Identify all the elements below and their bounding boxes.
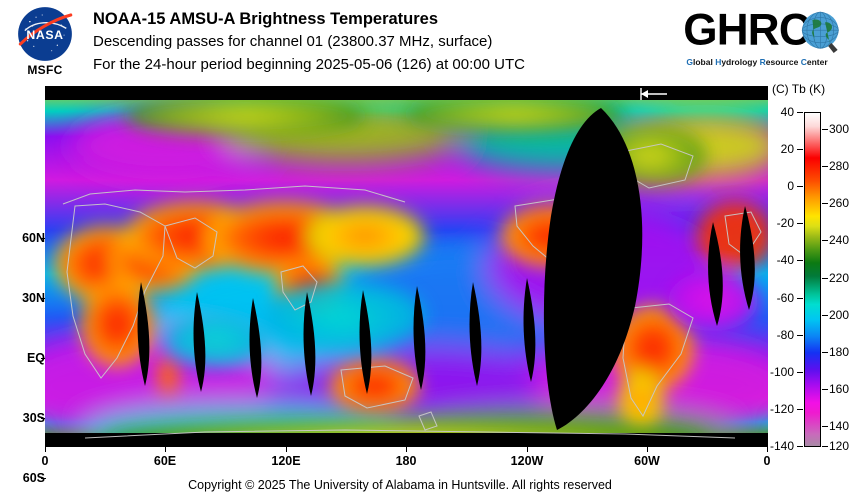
cb-tick-c-m20 bbox=[797, 223, 803, 224]
page-title: NOAA-15 AMSU-A Brightness Temperatures bbox=[93, 8, 693, 30]
lat-label-30n: 30N bbox=[5, 292, 45, 304]
cb-label-k-180: 180 bbox=[829, 347, 854, 358]
cb-label-k-200: 200 bbox=[829, 310, 854, 321]
cb-tick-c-40 bbox=[797, 112, 803, 113]
ghrc-tagline: Global Hydrology Resource Center bbox=[682, 57, 832, 67]
lon-tick-60w bbox=[647, 447, 648, 452]
cb-label-k-260: 260 bbox=[829, 198, 854, 209]
lon-label-60e: 60E bbox=[154, 454, 176, 468]
cb-label-c-m80: -80 bbox=[764, 330, 794, 341]
cb-tick-c-m120 bbox=[797, 409, 803, 410]
lon-label-120w: 120W bbox=[511, 454, 544, 468]
cb-tick-k-140 bbox=[822, 426, 828, 427]
cb-label-c-m140: -140 bbox=[764, 441, 794, 452]
lon-label-360: 0 bbox=[764, 454, 771, 468]
lon-label-60w: 60W bbox=[634, 454, 660, 468]
ghrc-logo: GHRC Global Hydrology Resource Center bbox=[682, 5, 842, 77]
cb-label-c-m20: -20 bbox=[764, 218, 794, 229]
lat-label-60n: 60N bbox=[5, 232, 45, 244]
longitude-axis: 0 60E 120E 180 120W 60W 0 bbox=[45, 447, 768, 473]
cb-label-c-m120: -120 bbox=[764, 404, 794, 415]
cb-tick-c-m140 bbox=[797, 446, 803, 447]
cb-label-k-120: 120 bbox=[829, 441, 854, 452]
colorbar: (C) Tb (K) 40 20 0 -20 -40 -60 -80 -100 … bbox=[772, 82, 854, 454]
cb-tick-k-280 bbox=[822, 166, 828, 167]
cb-label-c-0: 0 bbox=[764, 181, 794, 192]
header-block: NOAA-15 AMSU-A Brightness Temperatures D… bbox=[93, 8, 693, 76]
cb-label-c-40: 40 bbox=[764, 107, 794, 118]
latitude-axis: 60N 30N EQ 30S 60S bbox=[0, 86, 45, 447]
cb-tick-k-220 bbox=[822, 278, 828, 279]
lon-tick-120w bbox=[527, 447, 528, 452]
header-subtitle-period: For the 24-hour period beginning 2025-05… bbox=[93, 53, 693, 76]
lon-tick-60e bbox=[165, 447, 166, 452]
header-subtitle-channel: Descending passes for channel 01 (23800.… bbox=[93, 30, 693, 53]
brightness-temperature-map[interactable] bbox=[45, 86, 768, 447]
map-raster bbox=[45, 86, 768, 447]
nasa-meatball-icon: NASA bbox=[17, 6, 73, 62]
cb-tick-k-180 bbox=[822, 352, 828, 353]
svg-text:GHRC: GHRC bbox=[683, 5, 810, 54]
lon-tick-0 bbox=[45, 447, 46, 452]
cb-label-c-m60: -60 bbox=[764, 293, 794, 304]
cb-label-c-m40: -40 bbox=[764, 255, 794, 266]
nasa-center-label: MSFC bbox=[8, 63, 82, 77]
lat-label-eq: EQ bbox=[5, 352, 45, 364]
cb-label-k-300: 300 bbox=[829, 124, 854, 135]
cb-tick-c-m40 bbox=[797, 260, 803, 261]
cb-tick-k-260 bbox=[822, 203, 828, 204]
cb-tick-c-m80 bbox=[797, 335, 803, 336]
lat-label-30s: 30S bbox=[5, 412, 45, 424]
colorbar-gradient bbox=[804, 112, 821, 447]
cb-label-k-140: 140 bbox=[829, 421, 854, 432]
cb-tick-k-240 bbox=[822, 240, 828, 241]
cb-label-k-240: 240 bbox=[829, 235, 854, 246]
lon-label-0: 0 bbox=[42, 454, 49, 468]
colorbar-heading: (C) Tb (K) bbox=[772, 82, 854, 96]
ghrc-wordmark-icon: GHRC bbox=[682, 5, 842, 57]
cb-tick-k-160 bbox=[822, 389, 828, 390]
cb-tick-c-0 bbox=[797, 186, 803, 187]
lon-tick-180 bbox=[406, 447, 407, 452]
copyright-notice: Copyright © 2025 The University of Alaba… bbox=[0, 478, 800, 492]
cb-label-c-20: 20 bbox=[764, 144, 794, 155]
cb-tick-c-20 bbox=[797, 149, 803, 150]
cb-tick-k-300 bbox=[822, 129, 828, 130]
swath-start-arrow-icon bbox=[635, 87, 669, 101]
cb-tick-c-m100 bbox=[797, 372, 803, 373]
lon-label-120e: 120E bbox=[271, 454, 300, 468]
lon-tick-120e bbox=[286, 447, 287, 452]
lon-label-180: 180 bbox=[396, 454, 417, 468]
cb-tick-c-m60 bbox=[797, 298, 803, 299]
cb-label-k-280: 280 bbox=[829, 161, 854, 172]
cb-tick-k-120 bbox=[822, 446, 828, 447]
svg-text:NASA: NASA bbox=[26, 28, 63, 42]
cb-label-k-220: 220 bbox=[829, 273, 854, 284]
cb-label-c-m100: -100 bbox=[764, 367, 794, 378]
nasa-logo: NASA MSFC bbox=[8, 6, 82, 82]
cb-tick-k-200 bbox=[822, 315, 828, 316]
cb-label-k-160: 160 bbox=[829, 384, 854, 395]
